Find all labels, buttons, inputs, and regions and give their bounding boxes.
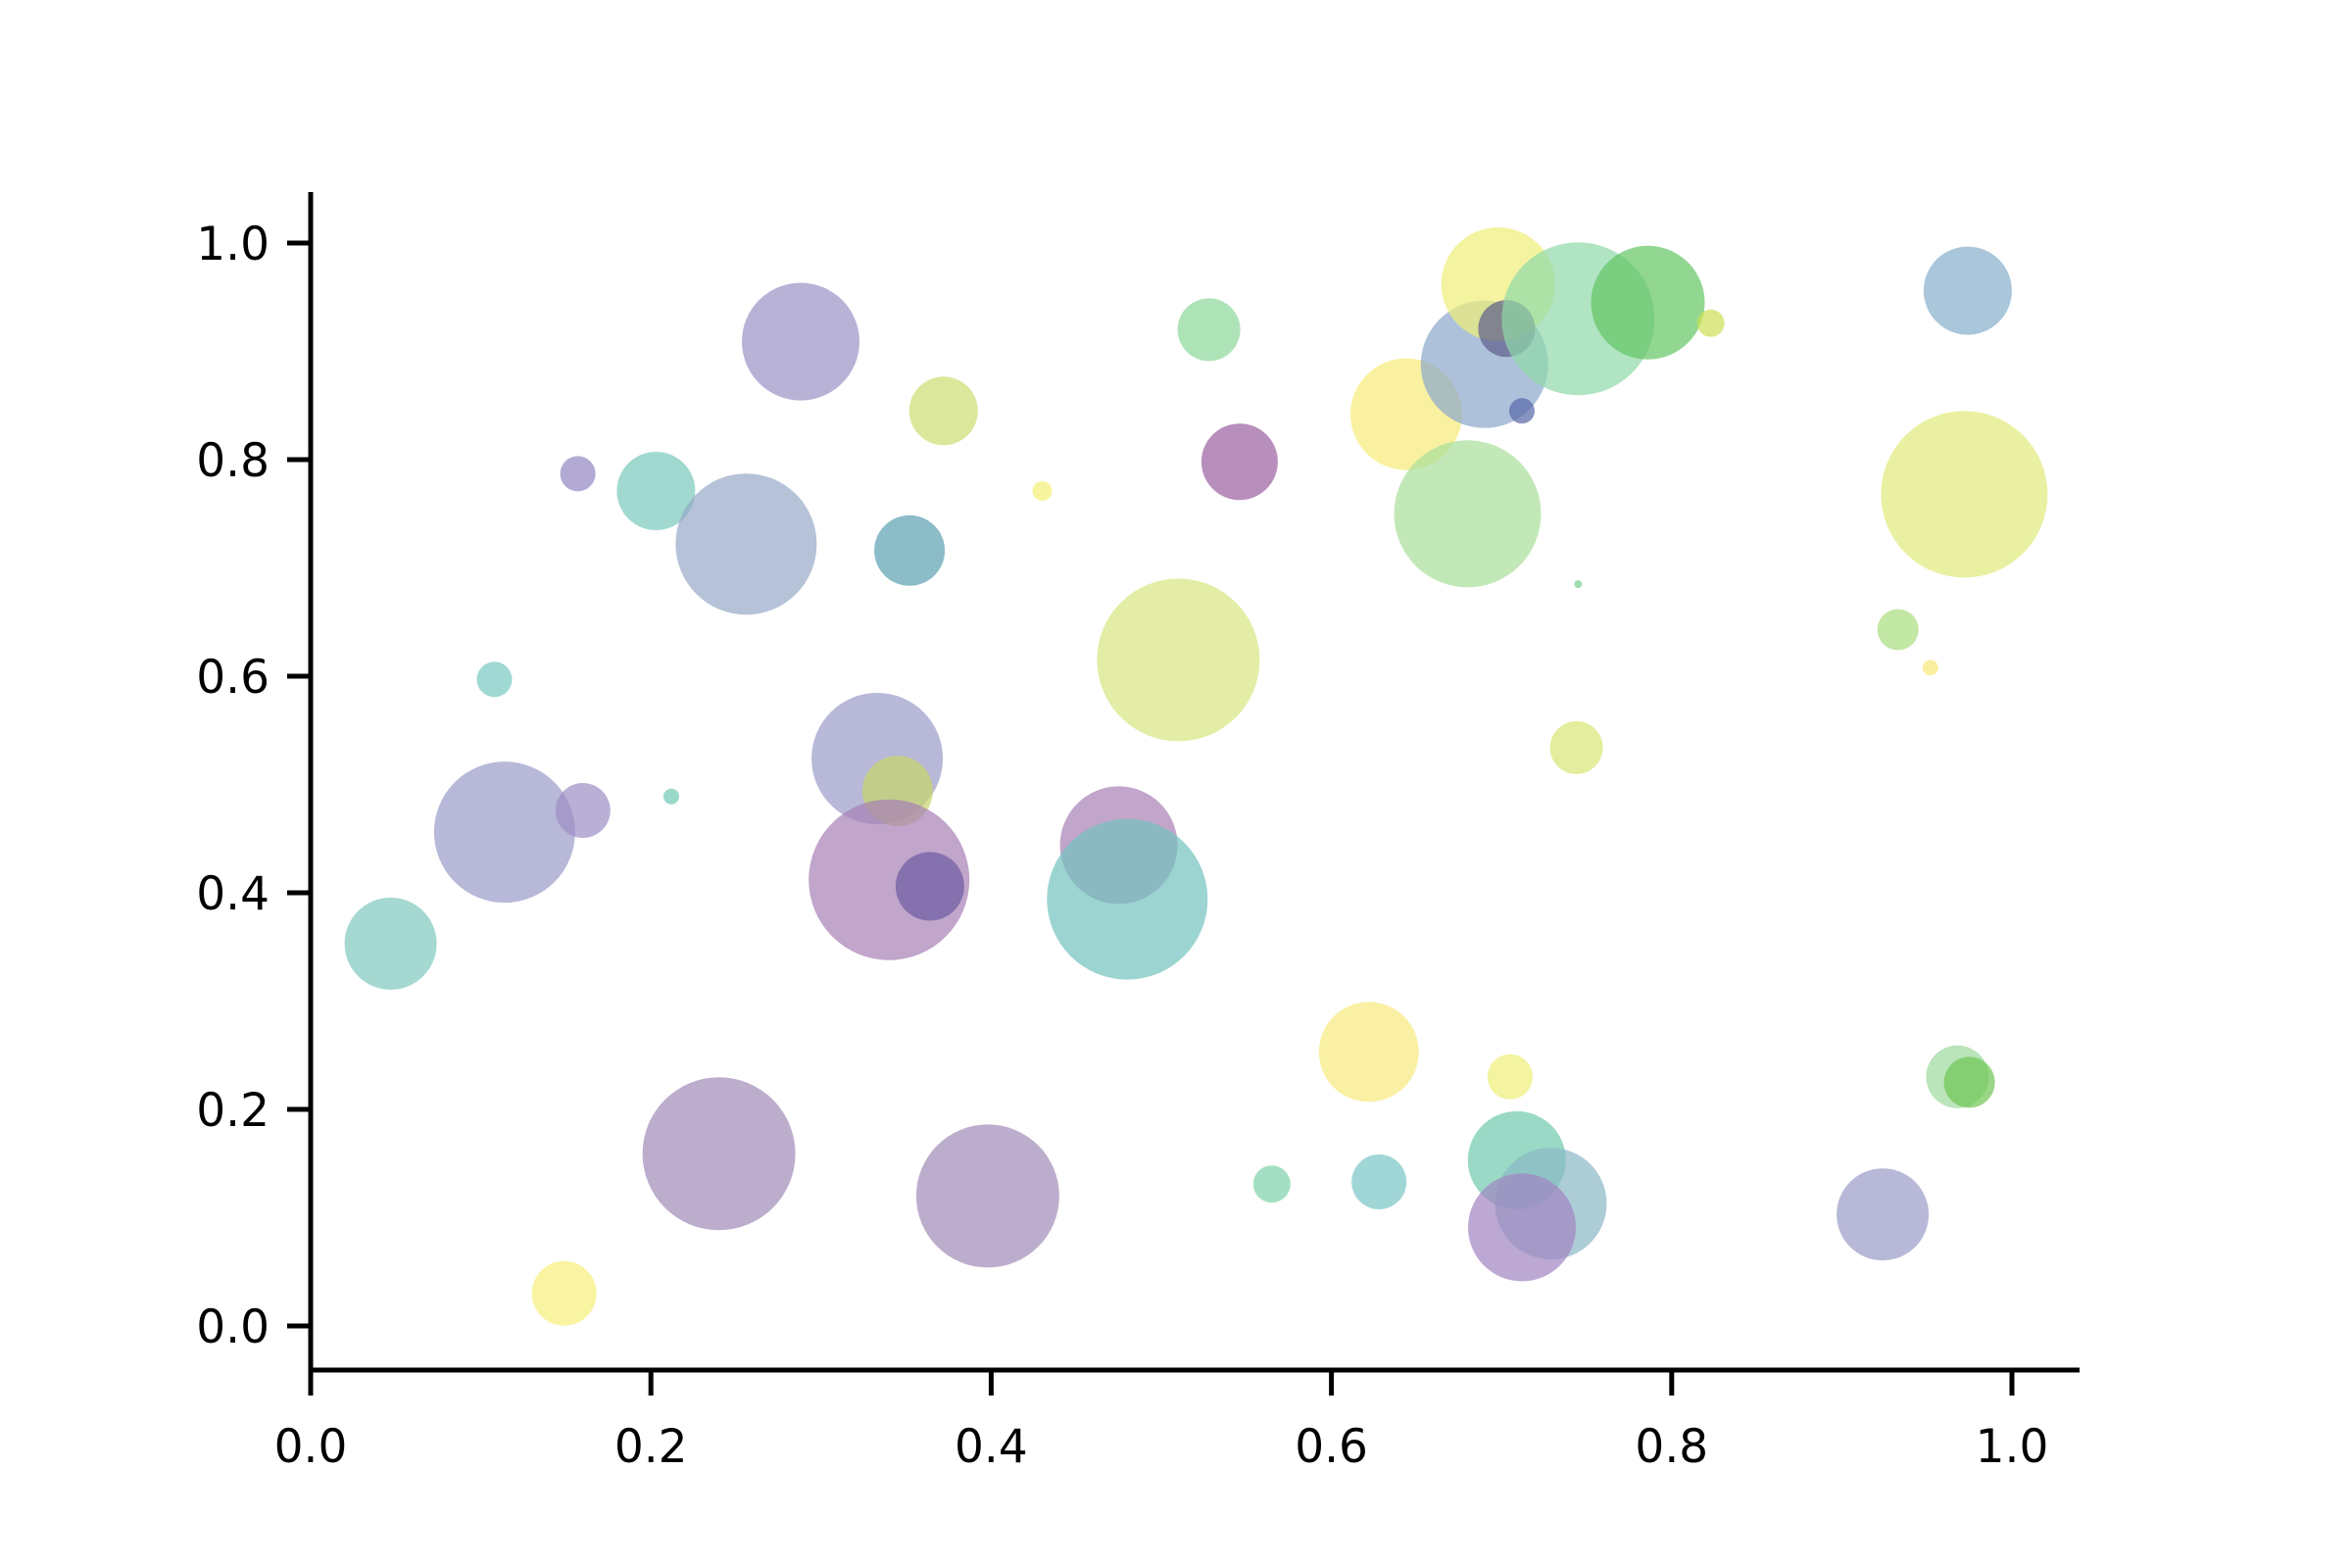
bubble-marker bbox=[1488, 1054, 1533, 1100]
bubble-marker bbox=[1944, 1056, 1995, 1107]
x-tick-label: 0.6 bbox=[1295, 1420, 1368, 1474]
bubble-marker bbox=[663, 789, 679, 805]
y-tick-label: 0.8 bbox=[196, 434, 269, 488]
bubble-marker bbox=[1574, 580, 1582, 588]
bubble-marker bbox=[1923, 660, 1938, 675]
bubble-marker bbox=[1351, 1154, 1406, 1209]
bubble-marker bbox=[561, 456, 596, 491]
y-tick-label: 1.0 bbox=[196, 218, 269, 271]
bubble-marker bbox=[896, 852, 964, 920]
bubble-marker bbox=[477, 661, 513, 697]
bubble-marker bbox=[1924, 247, 2012, 335]
bubble-marker bbox=[675, 473, 816, 614]
bubble-marker bbox=[345, 898, 437, 990]
bubble-marker bbox=[1878, 610, 1919, 651]
bubble-marker bbox=[1837, 1168, 1929, 1260]
x-tick-label: 1.0 bbox=[1976, 1420, 2049, 1474]
scatter-plot: 0.00.20.40.60.81.0 0.00.20.40.60.81.0 bbox=[0, 0, 2352, 1568]
bubble-marker bbox=[1881, 411, 2047, 577]
x-tick-label: 0.4 bbox=[955, 1420, 1028, 1474]
bubble-marker bbox=[643, 1077, 796, 1230]
bubble-marker bbox=[434, 761, 575, 903]
bubble-marker bbox=[909, 376, 978, 445]
figure-background bbox=[0, 0, 2352, 1568]
bubble-marker bbox=[1319, 1002, 1419, 1102]
bubble-marker bbox=[1201, 423, 1278, 500]
figure-canvas: 0.00.20.40.60.81.0 0.00.20.40.60.81.0 bbox=[0, 0, 2352, 1568]
bubble-marker bbox=[556, 783, 611, 838]
bubble-marker bbox=[1097, 578, 1259, 741]
y-tick-label: 0.0 bbox=[196, 1300, 269, 1354]
bubble-marker bbox=[1509, 398, 1535, 423]
bubble-marker bbox=[1178, 298, 1241, 361]
bubble-marker bbox=[1468, 1173, 1576, 1281]
bubble-marker bbox=[1592, 246, 1705, 360]
bubble-marker bbox=[1253, 1165, 1291, 1202]
bubble-marker bbox=[1697, 310, 1725, 337]
x-tick-label: 0.8 bbox=[1635, 1420, 1708, 1474]
x-tick-label: 0.0 bbox=[274, 1420, 348, 1474]
bubble-marker bbox=[874, 515, 945, 586]
bubble-marker bbox=[1550, 721, 1603, 774]
bubble-marker bbox=[1033, 481, 1053, 501]
y-tick-label: 0.6 bbox=[196, 651, 269, 705]
bubble-marker bbox=[742, 283, 859, 401]
y-tick-label: 0.2 bbox=[196, 1084, 269, 1138]
bubble-marker bbox=[1395, 440, 1542, 587]
y-tick-label: 0.4 bbox=[196, 867, 269, 921]
bubble-marker bbox=[1047, 819, 1207, 980]
bubble-marker bbox=[532, 1261, 597, 1326]
bubble-marker bbox=[916, 1124, 1059, 1267]
x-tick-label: 0.2 bbox=[614, 1420, 688, 1474]
